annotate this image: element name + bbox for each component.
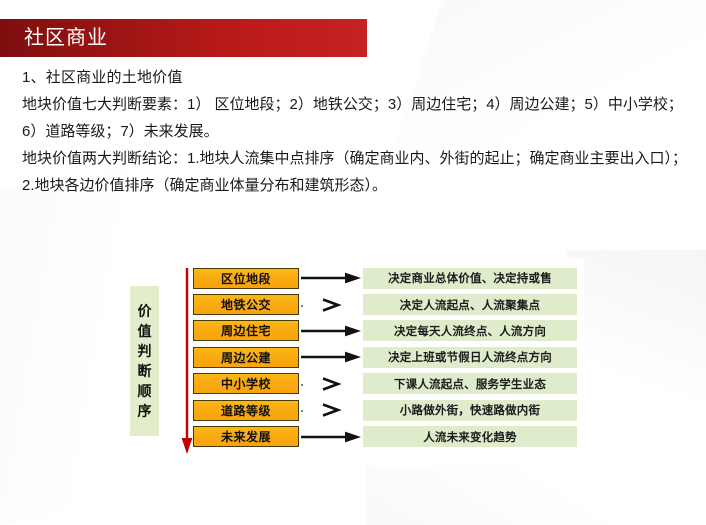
body-paragraph-2: 地块价值两大判断结论：1.地块人流集中点排序（确定商业内、外街的起止；确定商业主… [22,145,690,199]
background-watermark-shape [566,250,706,480]
factor-box[interactable]: 周边公建 [193,347,299,368]
order-label-char: 价 [138,301,152,321]
order-label-char: 序 [138,401,152,421]
outcome-box[interactable]: 决定商业总体价值、决定持或售 [363,268,577,289]
diagram-row: 周边公建决定上班或节假日人流终点方向 [193,344,581,370]
diagram-row: 道路等级小路做外街，快速路做内街 [193,397,581,423]
outcome-box[interactable]: 决定上班或节假日人流终点方向 [363,347,577,368]
arrow-right-icon [299,426,363,448]
slide-title-bar: 社区商业 [0,19,367,57]
diagram-row: 中小学校下课人流起点、服务学生业态 [193,371,581,397]
diagram-row: 周边住宅决定每天人流终点、人流方向 [193,318,581,344]
diagram-row: 地铁公交决定人流起点、人流聚集点 [193,291,581,317]
body-paragraph-1: 地块价值七大判断要素：1） 区位地段；2）地铁公交；3）周边住宅；4）周边公建；… [22,91,690,145]
diagram-rows: 区位地段决定商业总体价值、决定持或售地铁公交决定人流起点、人流聚集点周边住宅决定… [193,265,581,450]
diagram-row: 区位地段决定商业总体价值、决定持或售 [193,265,581,291]
body-heading: 1、社区商业的土地价值 [22,64,690,91]
order-label-char: 顺 [138,381,152,401]
arrow-right-icon [299,320,363,342]
arrow-right-icon [299,267,363,289]
page-title: 社区商业 [24,28,108,48]
chevron-right-icon [299,294,363,316]
diagram-row: 未来发展人流未来变化趋势 [193,423,581,449]
slide-canvas: 社区商业 1、社区商业的土地价值 地块价值七大判断要素：1） 区位地段；2）地铁… [0,0,706,525]
order-label-char: 断 [138,361,152,381]
order-label-char: 值 [138,321,152,341]
order-label-char: 判 [138,341,152,361]
outcome-box[interactable]: 人流未来变化趋势 [363,426,577,447]
downward-order-arrow-icon [180,268,194,456]
order-label-vertical: 价 值 判 断 顺 序 [130,286,159,436]
outcome-box[interactable]: 决定每天人流终点、人流方向 [363,320,577,341]
factor-box[interactable]: 周边住宅 [193,320,299,341]
factor-box[interactable]: 区位地段 [193,268,299,289]
factor-box[interactable]: 道路等级 [193,400,299,421]
outcome-box[interactable]: 下课人流起点、服务学生业态 [363,373,577,394]
factor-box[interactable]: 地铁公交 [193,294,299,315]
slide-body-text: 1、社区商业的土地价值 地块价值七大判断要素：1） 区位地段；2）地铁公交；3）… [22,64,690,199]
factor-box[interactable]: 未来发展 [193,426,299,447]
chevron-right-icon [299,373,363,395]
outcome-box[interactable]: 小路做外街，快速路做内街 [363,400,577,421]
outcome-box[interactable]: 决定人流起点、人流聚集点 [363,294,577,315]
chevron-right-icon [299,399,363,421]
value-judgement-diagram: 价 值 判 断 顺 序 区位地段决定商业总体价值、决定持或售地铁公交决定人流起点… [112,258,584,466]
arrow-right-icon [299,346,363,368]
factor-box[interactable]: 中小学校 [193,373,299,394]
